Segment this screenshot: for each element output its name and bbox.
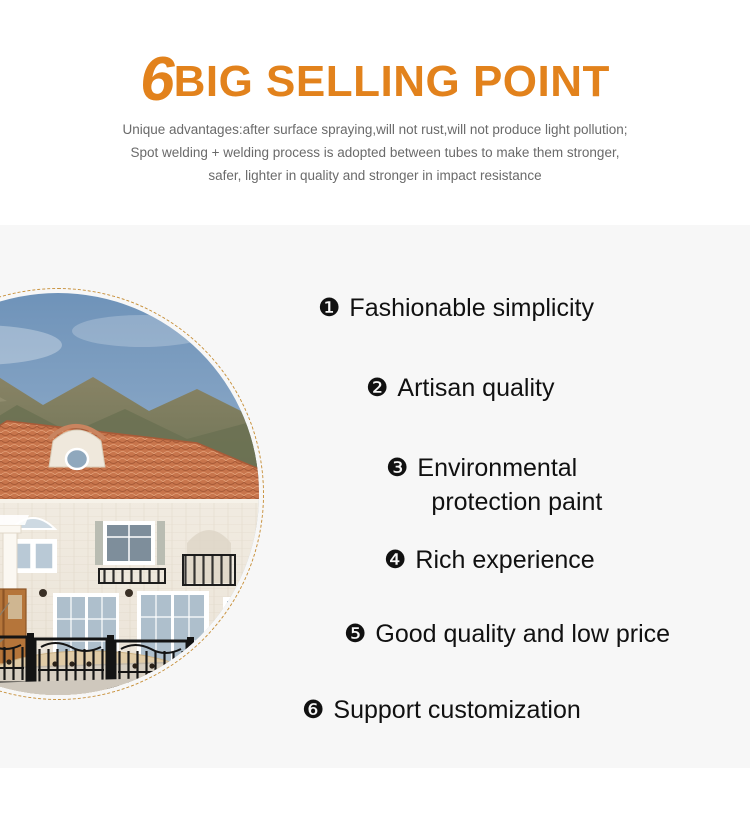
list-item-2-label: Artisan quality: [397, 371, 554, 405]
list-item-4: ❹ Rich experience: [384, 543, 595, 577]
subtitle-line-1: Unique advantages:after surface spraying…: [0, 118, 750, 141]
list-item-5: ❺ Good quality and low price: [344, 617, 670, 651]
list-item-6-label: Support customization: [333, 693, 580, 727]
list-item-5-label: Good quality and low price: [375, 617, 670, 651]
page-title: 6BIG SELLING POINT: [0, 44, 750, 115]
number-badge-2: ❷: [366, 371, 388, 405]
title-number: 6: [140, 45, 173, 114]
number-badge-3: ❸: [386, 451, 408, 485]
number-badge-4: ❹: [384, 543, 406, 577]
selling-points-list: ❶ Fashionable simplicity ❷ Artisan quali…: [0, 225, 750, 768]
subtitle-block: Unique advantages:after surface spraying…: [0, 118, 750, 187]
title-text: BIG SELLING POINT: [174, 57, 610, 106]
list-item-2: ❷ Artisan quality: [366, 371, 554, 405]
list-item-3-line-2: protection paint: [417, 485, 602, 519]
list-item-3-line-1: Environmental: [417, 454, 577, 482]
subtitle-line-2: Spot welding + welding process is adopte…: [0, 141, 750, 164]
list-item-1-label: Fashionable simplicity: [349, 291, 594, 325]
list-item-4-label: Rich experience: [415, 543, 594, 577]
list-item-3: ❸ Environmentalprotection paint: [386, 451, 602, 519]
header-section: 6BIG SELLING POINT Unique advantages:aft…: [0, 0, 750, 225]
number-badge-6: ❻: [302, 693, 324, 727]
number-badge-1: ❶: [318, 291, 340, 325]
footer-spacer: [0, 768, 750, 814]
subtitle-line-3: safer, lighter in quality and stronger i…: [0, 164, 750, 187]
list-item-3-label: Environmentalprotection paint: [417, 451, 602, 519]
list-item-1: ❶ Fashionable simplicity: [318, 291, 594, 325]
selling-points-infographic: 6BIG SELLING POINT Unique advantages:aft…: [0, 0, 750, 814]
number-badge-5: ❺: [344, 617, 366, 651]
list-item-6: ❻ Support customization: [302, 693, 581, 727]
